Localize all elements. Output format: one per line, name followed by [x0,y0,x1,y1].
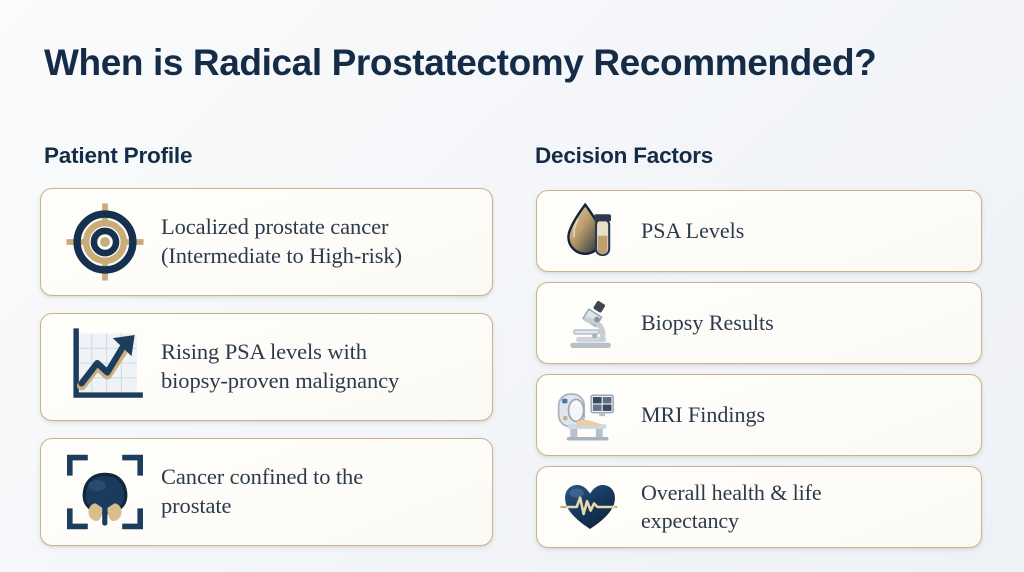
blood-drop-test-tube-icon [555,200,625,262]
list-item[interactable]: PSA Levels [536,190,982,272]
section-heading-decision-factors: Decision Factors [535,143,713,169]
infographic-canvas: When is Radical Prostatectomy Recommende… [0,0,1024,572]
list-item-label: Biopsy Results [641,309,774,337]
list-item[interactable]: Overall health & life expectancy [536,466,982,548]
list-item-label: Cancer confined to the prostate [161,463,363,520]
list-item-label: MRI Findings [641,401,765,429]
list-item[interactable]: Biopsy Results [536,282,982,364]
heart-pulse-icon [555,476,625,538]
target-crosshair-icon [63,200,147,284]
list-item-label: Overall health & life expectancy [641,479,822,535]
rising-chart-arrow-icon [63,325,147,409]
page-title: When is Radical Prostatectomy Recommende… [44,42,984,84]
mri-scanner-icon [555,384,625,446]
list-item[interactable]: MRI Findings [536,374,982,456]
list-item[interactable]: Localized prostate cancer (Intermediate … [40,188,493,296]
decision-factors-card-list: PSA Levels Biopsy Results [536,190,982,558]
list-item-label: Localized prostate cancer (Intermediate … [161,213,402,270]
section-heading-patient-profile: Patient Profile [44,143,192,169]
list-item[interactable]: Rising PSA levels with biopsy-proven mal… [40,313,493,421]
prostate-anatomy-focus-icon [63,450,147,534]
list-item-label: Rising PSA levels with biopsy-proven mal… [161,338,399,395]
patient-profile-card-list: Localized prostate cancer (Intermediate … [40,188,493,563]
list-item-label: PSA Levels [641,217,744,245]
list-item[interactable]: Cancer confined to the prostate [40,438,493,546]
microscope-icon [555,292,625,354]
